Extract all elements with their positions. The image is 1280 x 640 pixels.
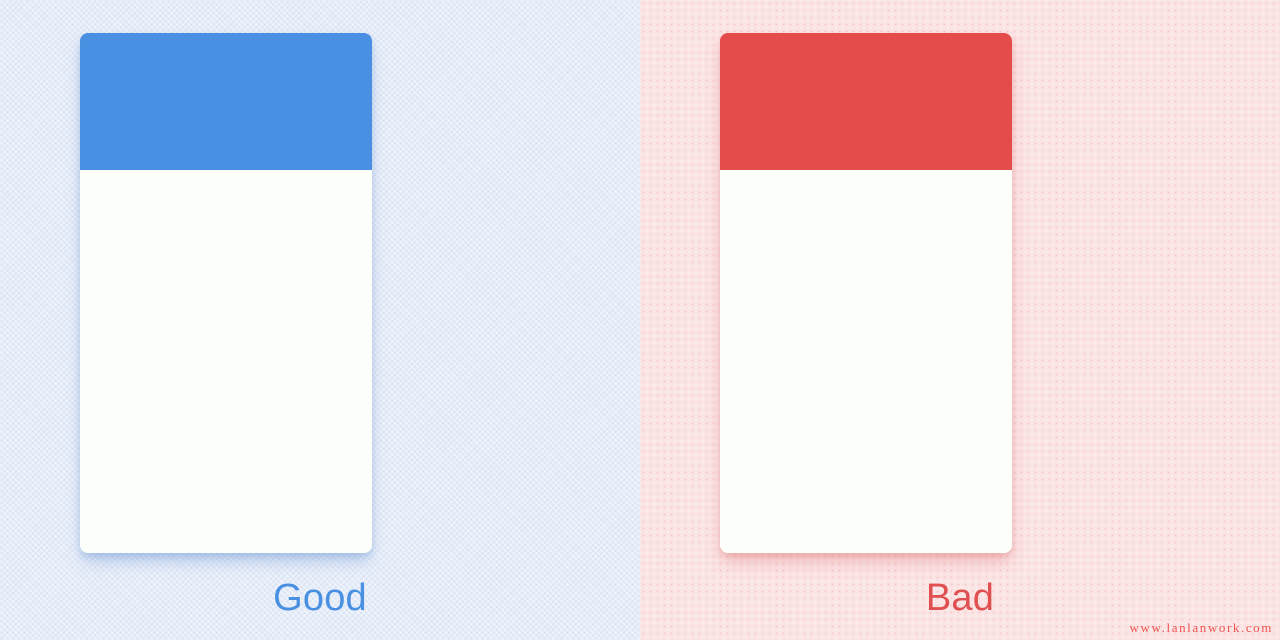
panel-bad: Bad xyxy=(640,0,1280,640)
caption-good: Good xyxy=(0,573,640,623)
panel-good: Good xyxy=(0,0,640,640)
card-bad-example[interactable] xyxy=(720,33,1012,553)
site-watermark: www.lanlanwork.com xyxy=(1130,620,1273,636)
comparison-stage: Good Bad www.lanlanwork.com xyxy=(0,0,1280,640)
card-body-bad xyxy=(720,170,1012,553)
card-good-example[interactable] xyxy=(80,33,372,553)
caption-bad: Bad xyxy=(640,573,1280,623)
card-header-good xyxy=(80,33,372,170)
card-header-bad xyxy=(720,33,1012,170)
card-body-good xyxy=(80,170,372,553)
